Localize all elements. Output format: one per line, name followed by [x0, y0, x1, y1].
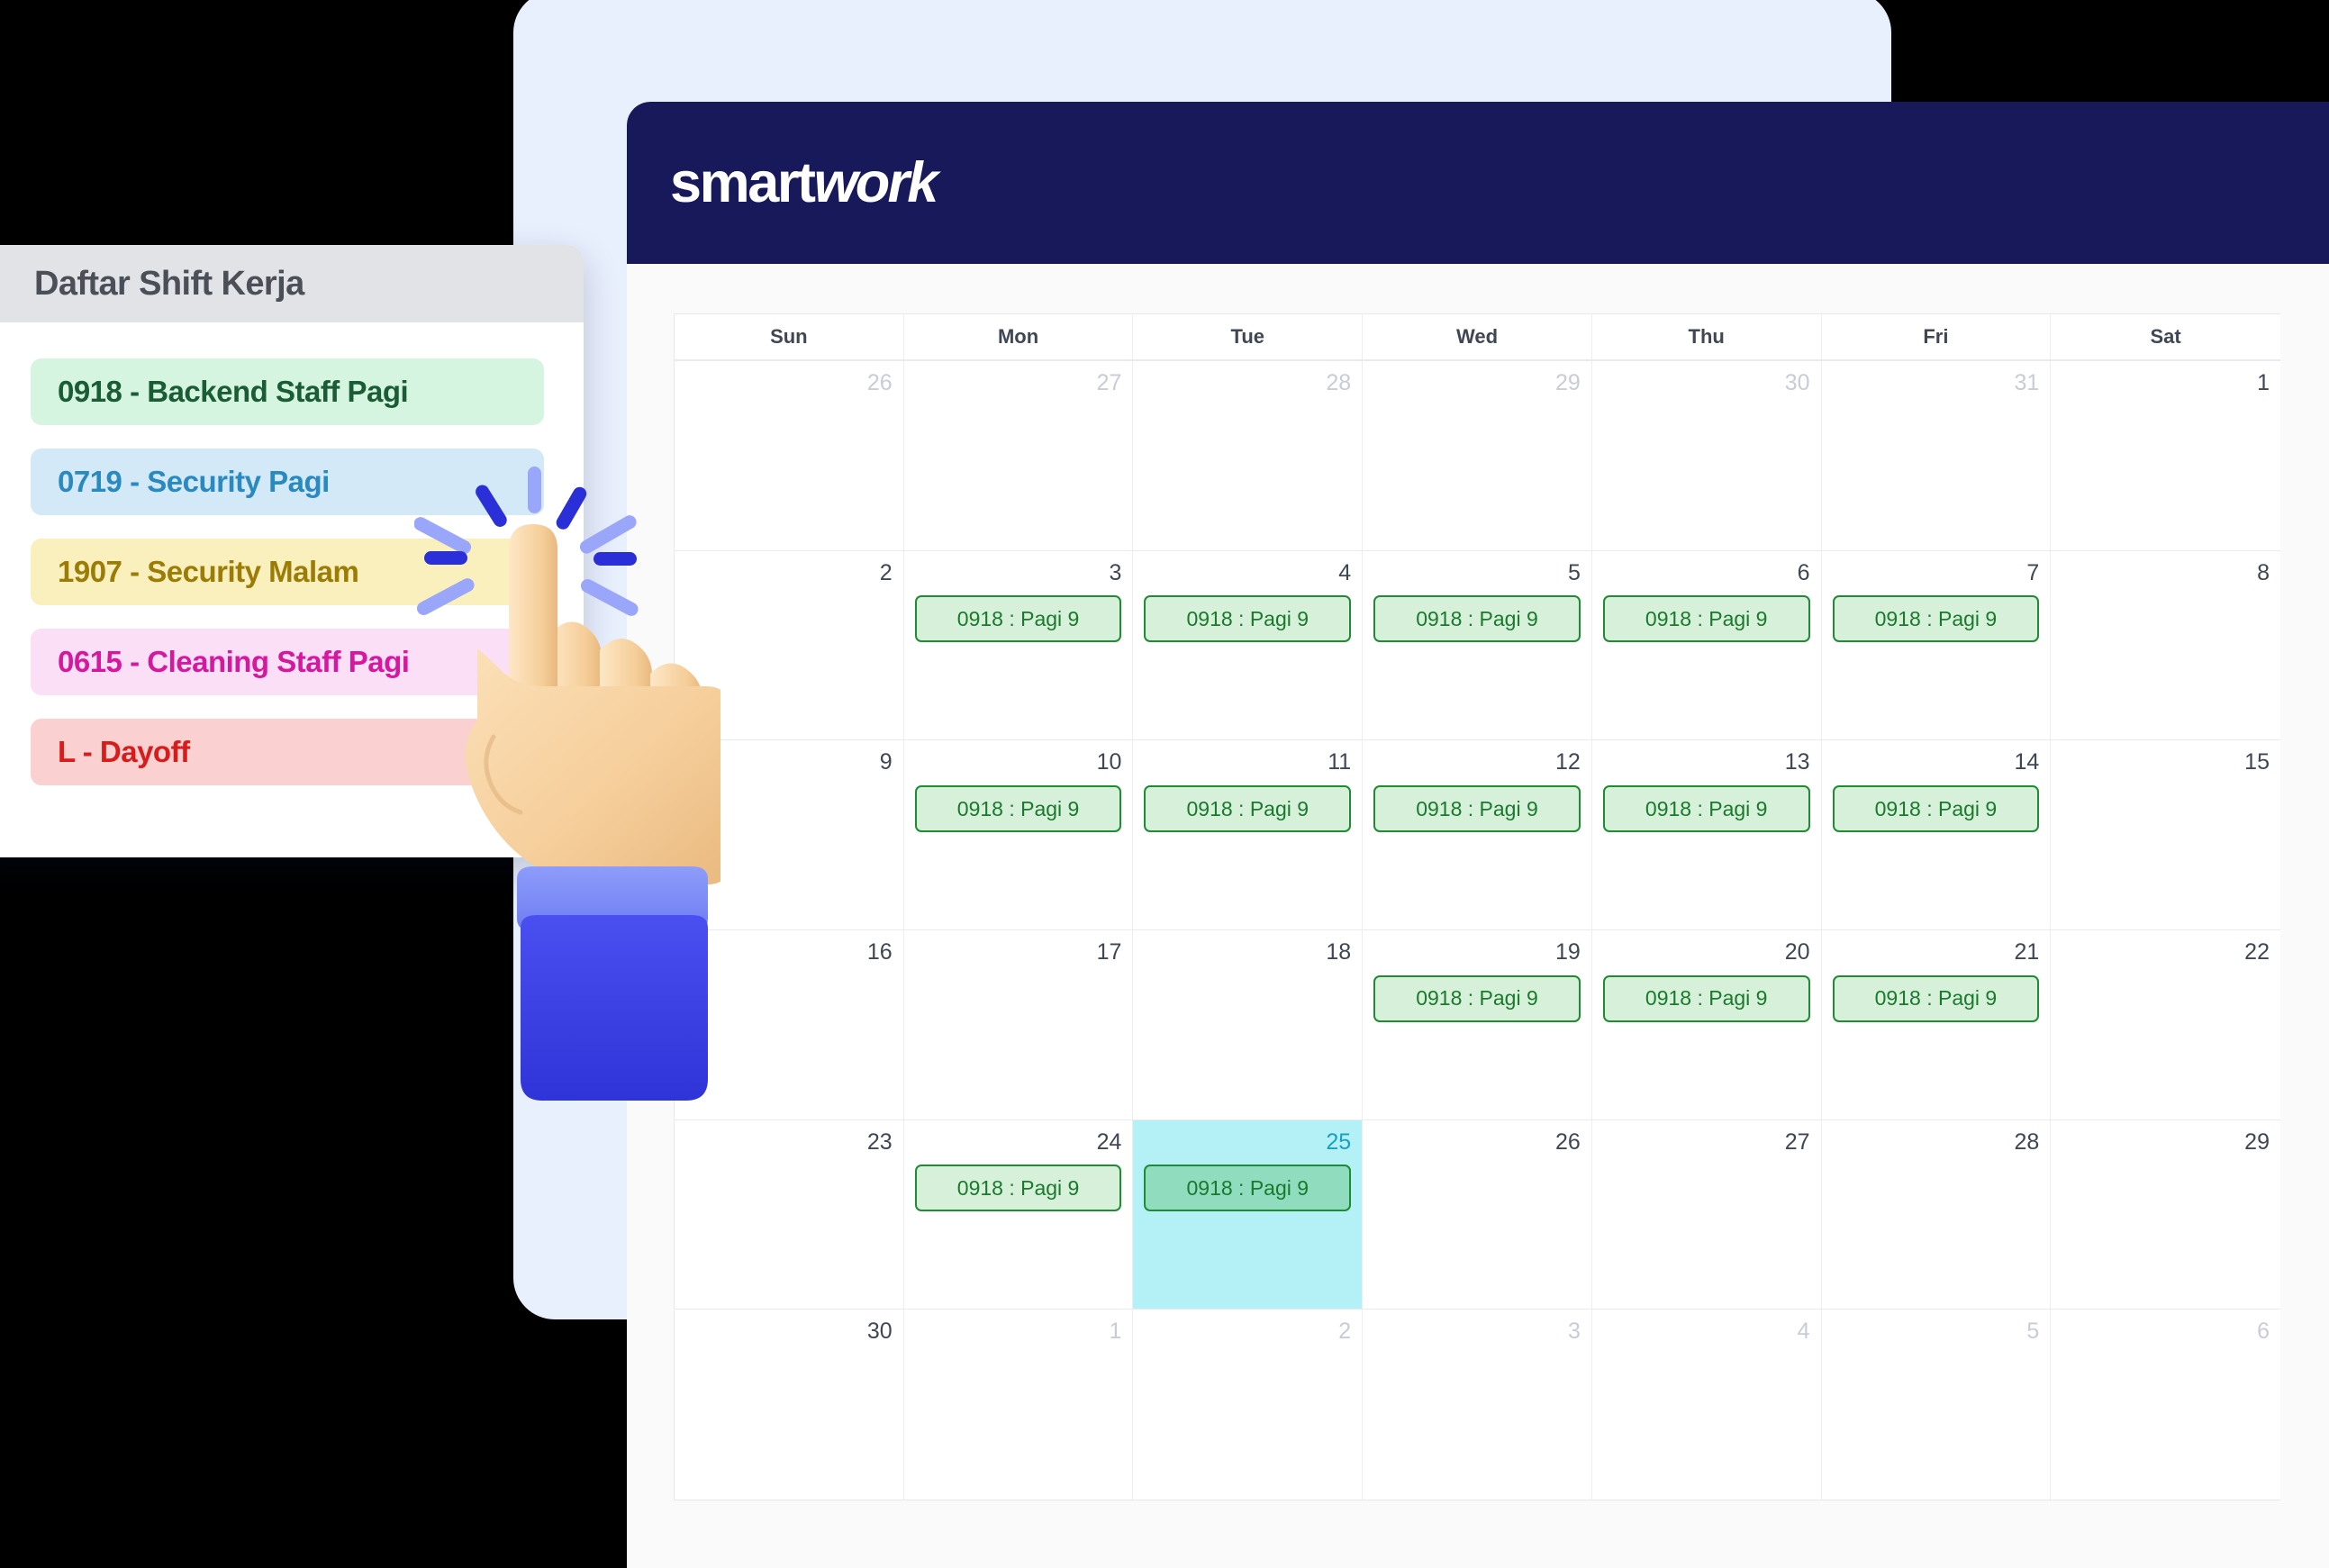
calendar-day-number: 1 [915, 1319, 1122, 1345]
calendar-day-number: 11 [1144, 749, 1351, 775]
calendar-day-cell[interactable]: 18 [1133, 930, 1363, 1120]
calendar-day-number: 30 [1603, 370, 1810, 396]
calendar-day-cell[interactable]: 23 [675, 1120, 904, 1310]
calendar-day-number: 4 [1144, 560, 1351, 586]
calendar-dow-wed: Wed [1363, 314, 1592, 359]
calendar-day-number: 26 [685, 370, 893, 396]
calendar-day-number: 4 [1603, 1319, 1810, 1345]
calendar-day-cell[interactable]: 26 [1363, 1120, 1592, 1310]
brand-logo-part1: smart [670, 151, 814, 214]
calendar-day-cell[interactable]: 6 [2051, 1310, 2280, 1500]
calendar-day-cell[interactable]: 15 [2051, 740, 2280, 930]
calendar-day-cell[interactable]: 29 [1363, 361, 1592, 551]
brand-logo: smartwork [670, 155, 936, 212]
calendar-day-number: 17 [915, 939, 1122, 965]
calendar-day-number: 3 [1373, 1319, 1581, 1345]
calendar-day-headers: SunMonTueWedThuFriSat [675, 314, 2280, 361]
calendar-dow-thu: Thu [1592, 314, 1822, 359]
shift-list-item[interactable]: 0918 - Backend Staff Pagi [31, 358, 544, 425]
calendar-day-number: 6 [2062, 1319, 2270, 1345]
calendar-day-number: 29 [2062, 1129, 2270, 1156]
calendar-day-number: 21 [1833, 939, 2040, 965]
calendar-day-number: 6 [1603, 560, 1810, 586]
calendar-event-chip[interactable]: 0918 : Pagi 9 [1144, 595, 1351, 642]
calendar-day-number: 19 [1373, 939, 1581, 965]
calendar-event-chip[interactable]: 0918 : Pagi 9 [1603, 975, 1810, 1022]
calendar-day-number: 31 [1833, 370, 2040, 396]
calendar-day-number: 30 [685, 1319, 893, 1345]
calendar-day-number: 3 [915, 560, 1122, 586]
calendar-day-cell[interactable]: 30918 : Pagi 9 [904, 551, 1134, 741]
shift-list-panel[interactable]: Daftar Shift Kerja 0918 - Backend Staff … [0, 245, 584, 857]
calendar-day-cell[interactable]: 29 [2051, 1120, 2280, 1310]
calendar-day-number: 26 [1373, 1129, 1581, 1156]
calendar-day-cell[interactable]: 26 [675, 361, 904, 551]
calendar-day-number: 24 [915, 1129, 1122, 1156]
calendar-day-cell[interactable]: 22 [2051, 930, 2280, 1120]
calendar-day-cell[interactable]: 50918 : Pagi 9 [1363, 551, 1592, 741]
calendar-day-cell[interactable]: 70918 : Pagi 9 [1822, 551, 2052, 741]
calendar-event-chip[interactable]: 0918 : Pagi 9 [1833, 975, 2040, 1022]
calendar-day-number: 5 [1833, 1319, 2040, 1345]
calendar-day-cell[interactable]: 27 [904, 361, 1134, 551]
calendar-dow-sun: Sun [675, 314, 904, 359]
calendar-dow-sat: Sat [2051, 314, 2280, 359]
calendar-event-chip[interactable]: 0918 : Pagi 9 [915, 785, 1122, 832]
calendar-day-cell[interactable]: 100918 : Pagi 9 [904, 740, 1134, 930]
shift-list-item[interactable]: L - Dayoff [31, 719, 544, 785]
app-window: smartwork SunMonTueWedThuFriSat 26272829… [627, 102, 2329, 1568]
calendar-day-cell[interactable]: 250918 : Pagi 9 [1133, 1120, 1363, 1310]
calendar-day-number: 22 [2062, 939, 2270, 965]
calendar-day-number: 15 [2062, 749, 2270, 775]
calendar-day-number: 16 [685, 939, 893, 965]
calendar-day-cell[interactable]: 4 [1592, 1310, 1822, 1500]
calendar-event-chip[interactable]: 0918 : Pagi 9 [1833, 595, 2040, 642]
calendar-day-number: 14 [1833, 749, 2040, 775]
calendar-day-number: 25 [1144, 1129, 1351, 1156]
calendar-day-number: 29 [1373, 370, 1581, 396]
calendar-day-number: 28 [1144, 370, 1351, 396]
calendar-day-number: 1 [2062, 370, 2270, 396]
calendar-event-chip[interactable]: 0918 : Pagi 9 [1373, 595, 1581, 642]
calendar[interactable]: SunMonTueWedThuFriSat 262728293031123091… [674, 313, 2280, 1500]
calendar-day-cell[interactable]: 1 [2051, 361, 2280, 551]
app-header: smartwork [627, 102, 2329, 264]
calendar-day-number: 18 [1144, 939, 1351, 965]
calendar-day-cell[interactable]: 240918 : Pagi 9 [904, 1120, 1134, 1310]
calendar-event-chip[interactable]: 0918 : Pagi 9 [1603, 595, 1810, 642]
calendar-day-cell[interactable]: 9 [675, 740, 904, 930]
calendar-day-number: 20 [1603, 939, 1810, 965]
calendar-day-cell[interactable]: 60918 : Pagi 9 [1592, 551, 1822, 741]
calendar-day-number: 2 [1144, 1319, 1351, 1345]
shift-list-item[interactable]: 1907 - Security Malam [31, 539, 544, 605]
calendar-day-cell[interactable]: 28 [1133, 361, 1363, 551]
calendar-dow-fri: Fri [1822, 314, 2052, 359]
shift-list-items[interactable]: 0918 - Backend Staff Pagi0719 - Security… [0, 322, 584, 785]
brand-logo-part2: work [814, 151, 937, 214]
calendar-event-chip[interactable]: 0918 : Pagi 9 [1144, 785, 1351, 832]
calendar-day-cell[interactable]: 2 [1133, 1310, 1363, 1500]
calendar-event-chip[interactable]: 0918 : Pagi 9 [1833, 785, 2040, 832]
calendar-day-number: 5 [1373, 560, 1581, 586]
calendar-day-cell[interactable]: 31 [1822, 361, 2052, 551]
calendar-day-cell[interactable]: 110918 : Pagi 9 [1133, 740, 1363, 930]
calendar-day-cell[interactable]: 40918 : Pagi 9 [1133, 551, 1363, 741]
calendar-day-number: 12 [1373, 749, 1581, 775]
calendar-dow-tue: Tue [1133, 314, 1363, 359]
calendar-day-cell[interactable]: 210918 : Pagi 9 [1822, 930, 2052, 1120]
calendar-day-cell[interactable]: 16 [675, 930, 904, 1120]
calendar-day-cell[interactable]: 3 [1363, 1310, 1592, 1500]
shift-list-header: Daftar Shift Kerja [0, 245, 584, 322]
calendar-day-number: 8 [2062, 560, 2270, 586]
calendar-day-cell[interactable]: 27 [1592, 1120, 1822, 1310]
calendar-day-cell[interactable]: 30 [1592, 361, 1822, 551]
calendar-day-cell[interactable]: 2 [675, 551, 904, 741]
calendar-day-cell[interactable]: 1 [904, 1310, 1134, 1500]
calendar-day-cell[interactable]: 30 [675, 1310, 904, 1500]
calendar-day-number: 2 [685, 560, 893, 586]
calendar-day-cell[interactable]: 140918 : Pagi 9 [1822, 740, 2052, 930]
calendar-event-chip[interactable]: 0918 : Pagi 9 [1144, 1165, 1351, 1211]
shift-list-item[interactable]: 0615 - Cleaning Staff Pagi [31, 629, 544, 695]
calendar-day-cell[interactable]: 8 [2051, 551, 2280, 741]
calendar-day-number: 27 [1603, 1129, 1810, 1156]
calendar-day-number: 9 [685, 749, 893, 775]
shift-list-title: Daftar Shift Kerja [34, 265, 304, 304]
calendar-event-chip[interactable]: 0918 : Pagi 9 [1603, 785, 1810, 832]
calendar-event-chip[interactable]: 0918 : Pagi 9 [915, 595, 1122, 642]
screenshot-stage: smartwork SunMonTueWedThuFriSat 26272829… [0, 0, 2329, 1568]
calendar-event-chip[interactable]: 0918 : Pagi 9 [1373, 785, 1581, 832]
calendar-day-number: 10 [915, 749, 1122, 775]
shift-list-item[interactable]: 0719 - Security Pagi [31, 449, 544, 515]
calendar-day-number: 7 [1833, 560, 2040, 586]
calendar-day-number: 27 [915, 370, 1122, 396]
calendar-day-cell[interactable]: 200918 : Pagi 9 [1592, 930, 1822, 1120]
calendar-day-cell[interactable]: 5 [1822, 1310, 2052, 1500]
calendar-day-number: 23 [685, 1129, 893, 1156]
calendar-day-number: 13 [1603, 749, 1810, 775]
calendar-event-chip[interactable]: 0918 : Pagi 9 [915, 1165, 1122, 1211]
calendar-day-number: 28 [1833, 1129, 2040, 1156]
calendar-day-cell[interactable]: 17 [904, 930, 1134, 1120]
calendar-day-cell[interactable]: 120918 : Pagi 9 [1363, 740, 1592, 930]
calendar-day-cell[interactable]: 130918 : Pagi 9 [1592, 740, 1822, 930]
calendar-event-chip[interactable]: 0918 : Pagi 9 [1373, 975, 1581, 1022]
calendar-dow-mon: Mon [904, 314, 1134, 359]
calendar-day-cell[interactable]: 190918 : Pagi 9 [1363, 930, 1592, 1120]
calendar-grid[interactable]: 2627282930311230918 : Pagi 940918 : Pagi… [675, 361, 2280, 1500]
calendar-day-cell[interactable]: 28 [1822, 1120, 2052, 1310]
